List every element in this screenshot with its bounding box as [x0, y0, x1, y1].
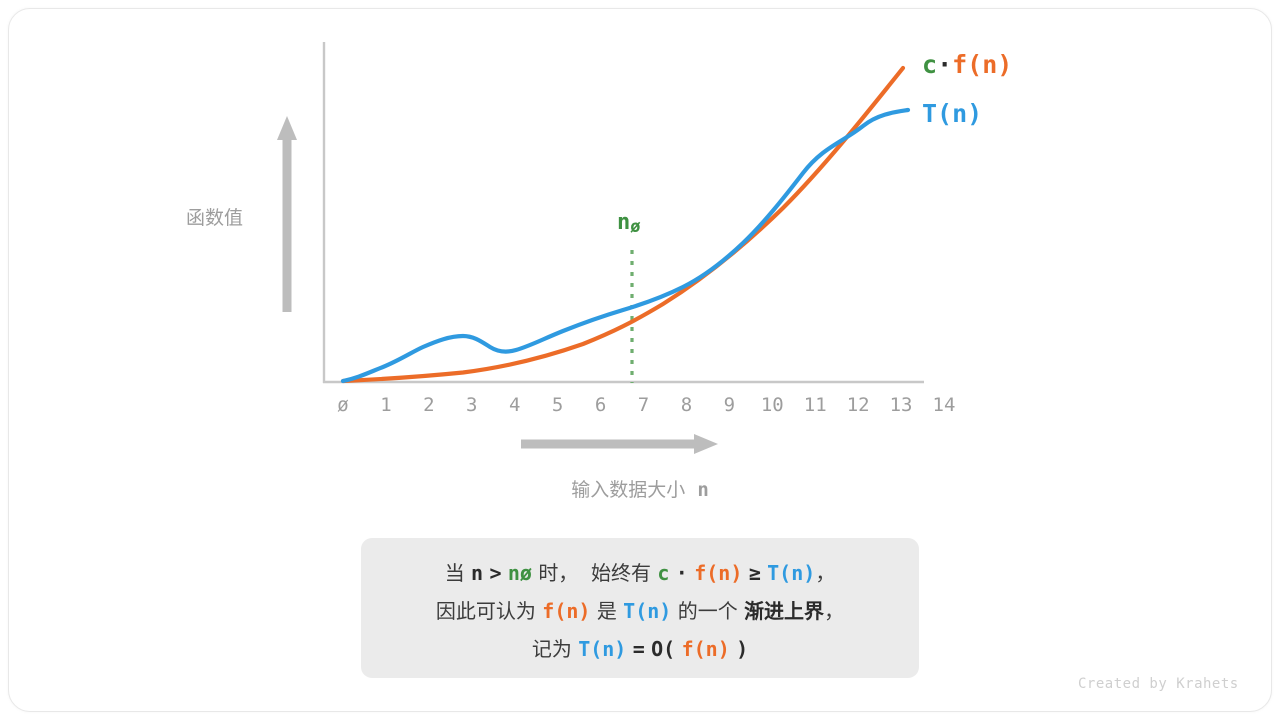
legend-t-n: T(n)	[922, 99, 982, 128]
caption-token-code: n	[471, 561, 483, 585]
y-axis-arrow	[277, 116, 297, 312]
caption-token-blue: T(n)	[623, 599, 671, 623]
legend-f-of-n: f(n)	[952, 50, 1012, 79]
x-axis-arrow	[521, 434, 718, 454]
x-tick-label: 7	[624, 394, 664, 416]
x-tick-label: 11	[795, 394, 835, 416]
caption-token-text: 记为	[532, 637, 572, 661]
caption-token-text: 的一个	[678, 599, 738, 623]
x-tick-label: 6	[581, 394, 621, 416]
caption-token-code: O(	[651, 637, 675, 661]
x-tick-label: 13	[881, 394, 921, 416]
caption-token-code: =	[633, 637, 645, 661]
n0-label-subscript: ø	[630, 217, 640, 237]
x-tick-label: 5	[538, 394, 578, 416]
x-axis-caption-text: 输入数据大小	[571, 479, 685, 501]
caption-token-green: nø	[508, 561, 532, 585]
legend-t-of-n: T(n)	[922, 99, 982, 128]
caption-token-code: ≥	[749, 561, 761, 585]
caption-box: 当 n > nø 时， 始终有 c · f(n) ≥ T(n)， 因此可认为 f…	[361, 538, 919, 678]
x-tick-label: 2	[409, 394, 449, 416]
credit-text: Created by Krahets	[1078, 676, 1239, 692]
caption-token-orange: f(n)	[542, 599, 590, 623]
caption-token-blue: T(n)	[767, 561, 815, 585]
caption-token-orange: f(n)	[694, 561, 742, 585]
caption-token-orange: f(n)	[682, 637, 730, 661]
x-tick-label: 9	[709, 394, 749, 416]
caption-token-code: )	[736, 637, 748, 661]
caption-token-text: 时，	[538, 561, 578, 585]
curve-t-n	[343, 110, 908, 381]
n0-label-n: n	[617, 210, 630, 235]
x-tick-label: 10	[752, 394, 792, 416]
figure-page: nø c·f(n) T(n) ø1234567891011121314 函数值 …	[0, 0, 1280, 720]
x-axis-caption: 输入数据大小 n	[436, 475, 844, 502]
x-axis-variable: n	[697, 479, 708, 501]
caption-token-text: 因此可认为	[436, 599, 536, 623]
y-axis-caption: 函数值	[186, 203, 243, 230]
caption-token-green: c	[657, 561, 669, 585]
legend-multiply-dot: ·	[937, 50, 952, 79]
n0-label: nø	[617, 210, 641, 237]
caption-token-text: 是	[597, 599, 617, 623]
x-tick-label: 4	[495, 394, 535, 416]
x-tick-label: 3	[452, 394, 492, 416]
caption-token-code: ·	[676, 561, 688, 585]
caption-token-code: >	[489, 561, 501, 585]
legend-c-f-n: c·f(n)	[922, 50, 1012, 79]
x-tick-label: 1	[366, 394, 406, 416]
x-axis-tick-labels: ø1234567891011121314	[323, 394, 924, 420]
x-tick-label: 14	[924, 394, 964, 416]
x-axis-caption-spacer	[685, 479, 697, 501]
legend-constant-c: c	[922, 50, 937, 79]
x-tick-label: ø	[323, 394, 363, 416]
x-tick-label: 8	[666, 394, 706, 416]
caption-line-2: 因此可认为 f(n) 是 T(n) 的一个 渐进上界，	[361, 592, 919, 630]
x-tick-label: 12	[838, 394, 878, 416]
caption-line-3: 记为 T(n) = O( f(n) )	[361, 630, 919, 668]
caption-token-emphasis: 渐进上界	[744, 599, 824, 623]
caption-line-1: 当 n > nø 时， 始终有 c · f(n) ≥ T(n)，	[361, 554, 919, 592]
caption-token-blue: T(n)	[578, 637, 626, 661]
caption-token-text: ，	[815, 561, 835, 585]
caption-token-text: 当	[445, 561, 465, 585]
caption-token-text: 始终有	[585, 561, 651, 585]
caption-token-text: ，	[824, 599, 844, 623]
